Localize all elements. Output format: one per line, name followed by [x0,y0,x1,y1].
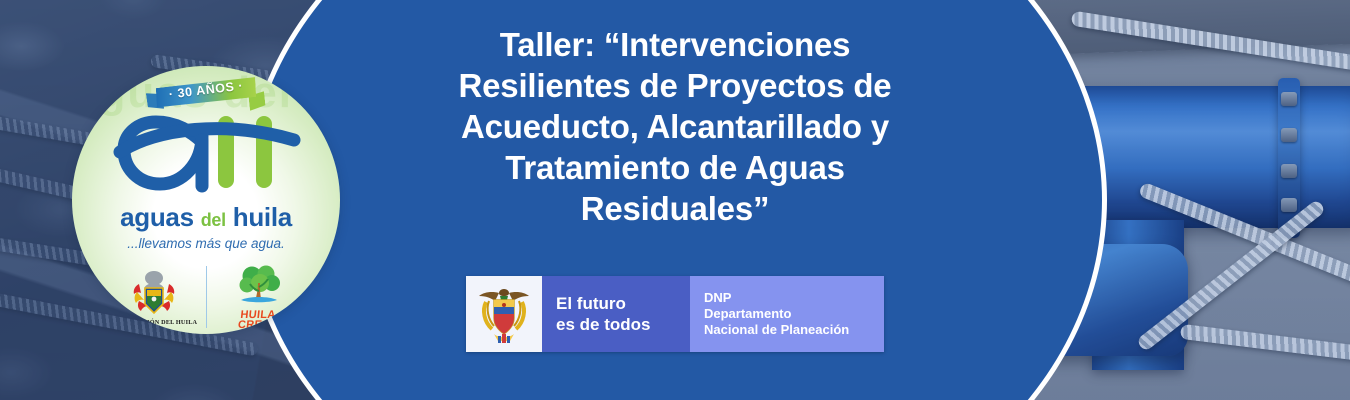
sub-logos-row: GOBERNACIÓN DEL HUILA [108,263,305,330]
coat-of-arms-huila-icon [131,268,177,316]
sub-logo-divider [206,266,207,328]
dnp-logo-bar: El futuro es de todos DNP Departamento N… [466,276,884,352]
crece-line-2: CRECE [238,320,279,330]
right-pipe-photo [880,0,1350,400]
gobernacion-huila-logo: GOBERNACIÓN DEL HUILA [108,268,200,326]
logo-word-aguas: aguas [120,202,194,232]
tree-icon [235,263,283,309]
dnp-slogan-text: El futuro es de todos [556,293,650,335]
logo-word-huila: huila [233,202,292,232]
anniversary-ribbon: · 30 AÑOS · [151,78,261,108]
banner-title: Taller: “Intervenciones Resilientes de P… [450,24,900,229]
colombia-coat-of-arms-icon [476,284,532,344]
dnp-slogan-block: El futuro es de todos [542,276,690,352]
event-banner: aguas del huila aguas del huila aguas de… [0,0,1350,400]
colombia-shield-block [466,276,542,352]
huila-crece-logo: HUILA CRECE [213,263,305,330]
dnp-name-text: DNP Departamento Nacional de Planeación [704,290,849,338]
gobernacion-label: GOBERNACIÓN DEL HUILA [110,319,197,326]
huila-crece-label: HUILA CRECE [238,310,278,330]
aguas-del-huila-logo: aguas del huila aguas del huila aguas de… [72,66,340,334]
dnp-name-block: DNP Departamento Nacional de Planeación [690,276,884,352]
logo-tagline: ...llevamos más que agua. [127,236,285,251]
logo-word-del: del [201,210,226,230]
ah-monogram-icon [106,106,306,198]
blue-tone-overlay [880,0,1350,400]
logo-wordmark: aguas del huila [120,202,292,233]
